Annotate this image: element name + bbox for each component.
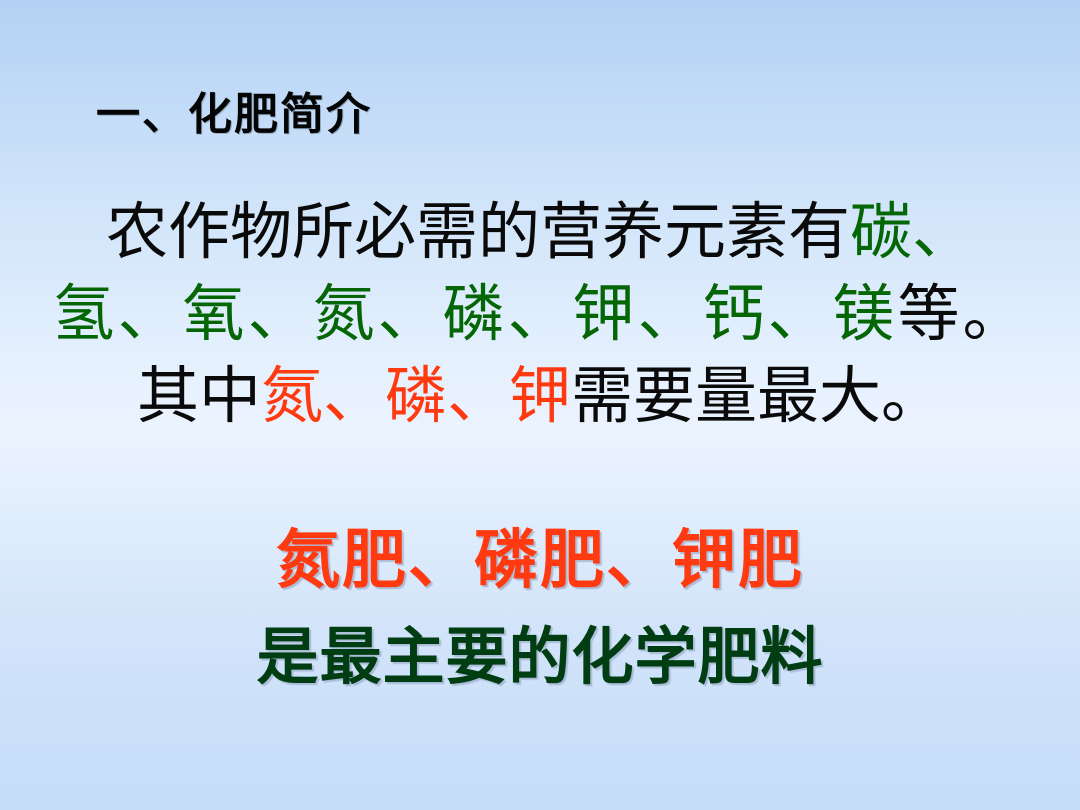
paragraph-line-1-green: 碳、 xyxy=(850,199,974,267)
page-title: 一、化肥简介 xyxy=(96,92,372,138)
paragraph-line-1-black: 农作物所必需的营养元素有 xyxy=(106,199,850,267)
conclusion-line-1: 氮肥、磷肥、钾肥 xyxy=(0,518,1080,604)
paragraph-line-1: 农作物所必需的营养元素有碳、 xyxy=(0,192,1080,274)
paragraph-line-3-black-suffix: 需要量最大。 xyxy=(571,363,943,431)
intro-paragraph: 农作物所必需的营养元素有碳、 氢、氧、氮、磷、钾、钙、镁等。 其中氮、磷、钾需要… xyxy=(0,192,1080,438)
conclusion-line-2: 是最主要的化学肥料 xyxy=(0,616,1080,700)
paragraph-line-2-green: 氢、氧、氮、磷、钾、钙、镁 xyxy=(52,281,897,349)
paragraph-line-3-orange: 氮、磷、钾 xyxy=(261,363,571,431)
slide-canvas: 一、化肥简介 农作物所必需的营养元素有碳、 氢、氧、氮、磷、钾、钙、镁等。 其中… xyxy=(0,0,1080,810)
paragraph-line-2-black: 等。 xyxy=(898,281,1028,349)
paragraph-line-3-black-prefix: 其中 xyxy=(137,363,261,431)
conclusion-block: 氮肥、磷肥、钾肥 是最主要的化学肥料 xyxy=(0,518,1080,700)
paragraph-line-3: 其中氮、磷、钾需要量最大。 xyxy=(0,356,1080,438)
paragraph-line-2: 氢、氧、氮、磷、钾、钙、镁等。 xyxy=(0,274,1080,356)
